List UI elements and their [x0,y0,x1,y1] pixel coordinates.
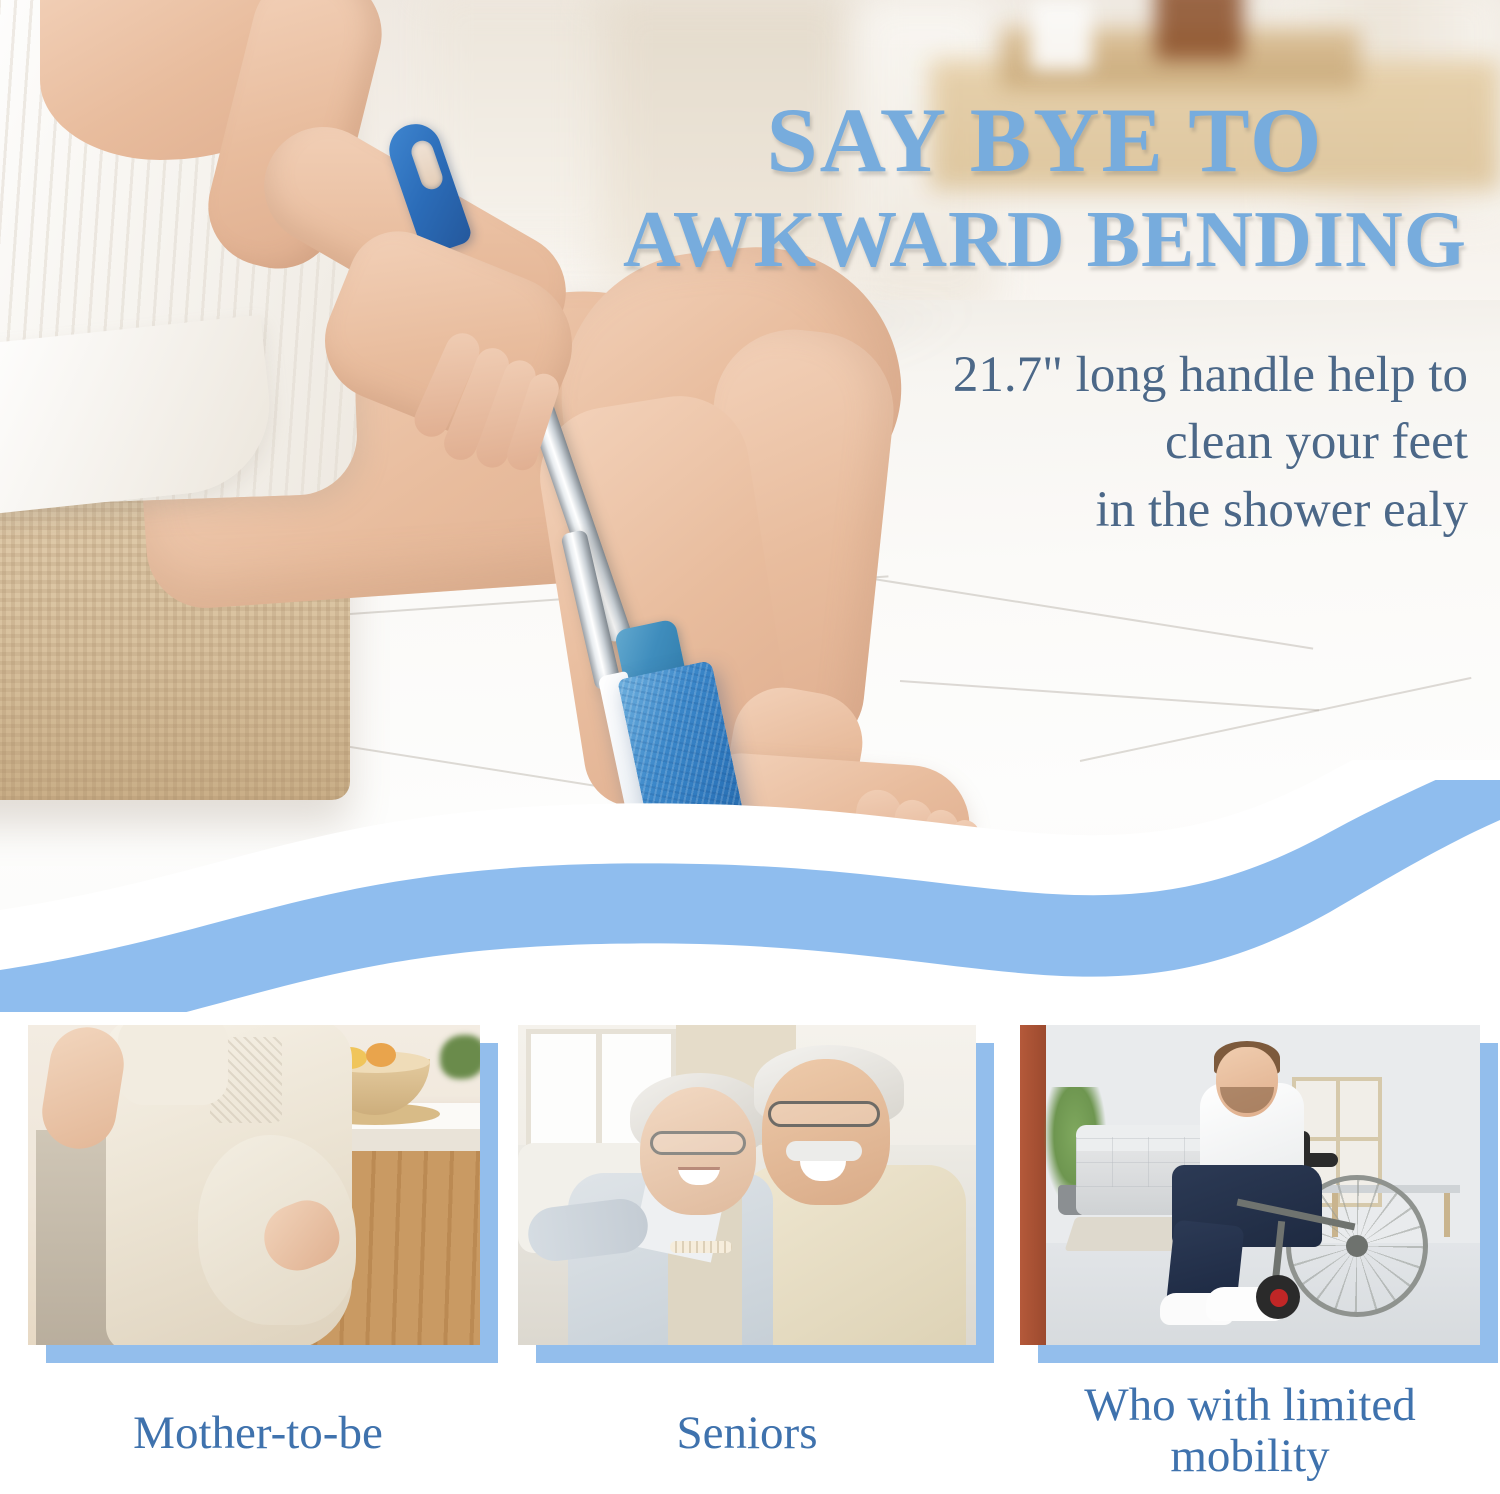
headline-line-1: SAY BYE TO [767,89,1324,191]
subtitle-text: 21.7" long handle help to clean your fee… [700,342,1490,544]
pearl-necklace [670,1241,732,1253]
plant-leaf [440,1035,480,1079]
room-vase [1030,0,1092,70]
caption-line-2: mobility [1010,1431,1490,1482]
card-caption-limited-mobility: Who with limited mobility [1010,1380,1490,1482]
card-caption-seniors: Seniors [518,1408,976,1459]
window-frame [596,1029,602,1149]
pregnant-woman-photo [28,1025,480,1345]
senior-man-glasses [768,1101,880,1127]
senior-couple-photo [518,1025,976,1345]
subtitle-line-1: 21.7" long handle help to [700,342,1468,409]
door-frame [1020,1025,1046,1345]
subtitle-line-3: in the shower ealy [700,477,1468,544]
card-caption-mother-to-be: Mother-to-be [28,1408,488,1459]
dress-shoulder [118,1025,228,1105]
page-title: SAY BYE TO AWKWARD BENDING [600,92,1490,282]
senior-woman-glasses [650,1131,746,1155]
wave-divider [0,780,1500,1030]
wheelchair-man-photo [1020,1025,1480,1345]
caption-line-1: Who with limited [1010,1380,1490,1431]
product-banner: SAY BYE TO AWKWARD BENDING 21.7" long ha… [0,0,1500,1494]
headline-line-2: AWKWARD BENDING [600,198,1490,283]
fruit [366,1043,396,1067]
side-table-leg [1444,1193,1450,1237]
subtitle-line-2: clean your feet [700,409,1468,476]
room-decor-object [1155,0,1243,60]
senior-man-face [762,1059,890,1205]
senior-man-mustache [786,1141,862,1161]
wheelchair-wheel-hub [1346,1235,1368,1257]
wheelchair-caster-hub [1270,1289,1288,1307]
